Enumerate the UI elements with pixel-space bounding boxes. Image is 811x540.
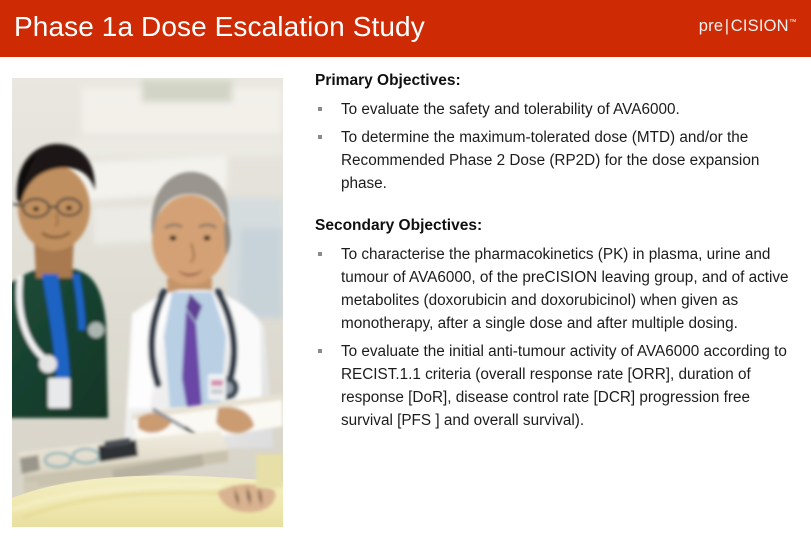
trademark-icon: ™ xyxy=(789,18,797,27)
list-item: To evaluate the initial anti-tumour acti… xyxy=(313,340,797,432)
page-title: Phase 1a Dose Escalation Study xyxy=(14,7,425,47)
secondary-objectives-section: Secondary Objectives: To characterise th… xyxy=(313,215,797,432)
list-item-text: To characterise the pharmacokinetics (PK… xyxy=(341,246,789,332)
list-item: To characterise the pharmacokinetics (PK… xyxy=(313,243,797,335)
bullet-icon xyxy=(318,349,322,353)
primary-objectives-section: Primary Objectives: To evaluate the safe… xyxy=(313,70,797,195)
list-item-text: To evaluate the initial anti-tumour acti… xyxy=(341,343,787,429)
logo-separator-icon: | xyxy=(723,17,731,35)
primary-objectives-list: To evaluate the safety and tolerability … xyxy=(313,98,797,195)
bullet-icon xyxy=(318,135,322,139)
list-item: To evaluate the safety and tolerability … xyxy=(313,98,797,121)
secondary-objectives-list: To characterise the pharmacokinetics (PK… xyxy=(313,243,797,432)
list-item-text: To evaluate the safety and tolerability … xyxy=(341,101,680,118)
clinical-photo-illustration xyxy=(12,78,283,527)
slide-header-bar: Phase 1a Dose Escalation Study pre|CISIO… xyxy=(0,0,811,57)
clinical-photo xyxy=(12,78,283,527)
list-item-text: To determine the maximum-tolerated dose … xyxy=(341,129,759,192)
secondary-objectives-heading: Secondary Objectives: xyxy=(315,215,797,237)
precision-brand-logo: pre|CISION™ xyxy=(699,16,797,36)
primary-objectives-heading: Primary Objectives: xyxy=(315,70,797,92)
logo-text-pre: pre xyxy=(699,17,723,35)
objectives-content: Primary Objectives: To evaluate the safe… xyxy=(313,70,797,437)
bullet-icon xyxy=(318,107,322,111)
bullet-icon xyxy=(318,252,322,256)
list-item: To determine the maximum-tolerated dose … xyxy=(313,126,797,195)
logo-text-cision: CISION xyxy=(731,17,789,35)
